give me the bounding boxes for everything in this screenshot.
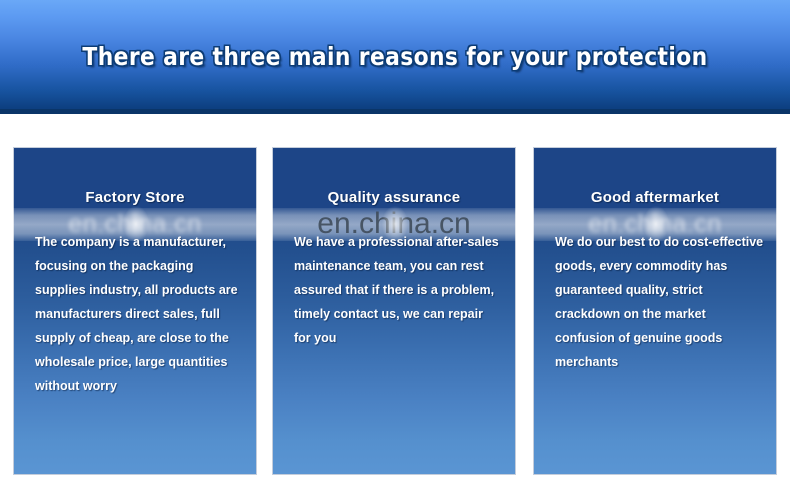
header-underline xyxy=(0,109,790,114)
card-title-good-aftermarket: Good aftermarket xyxy=(534,189,776,206)
card-body-quality-assurance: We have a professional after-sales maint… xyxy=(294,230,503,350)
promo-banner-page: There are three main reasons for your pr… xyxy=(0,0,790,477)
card-title-factory-store: Factory Store xyxy=(14,189,256,206)
reasons-card-row: Factory Store The company is a manufactu… xyxy=(0,148,790,474)
header-banner: There are three main reasons for your pr… xyxy=(0,0,790,114)
card-body-factory-store: The company is a manufacturer, focusing … xyxy=(35,230,244,398)
reason-card-good-aftermarket: Good aftermarket We do our best to do co… xyxy=(534,148,776,474)
card-body-good-aftermarket: We do our best to do cost-effective good… xyxy=(555,230,764,374)
reason-card-factory-store: Factory Store The company is a manufactu… xyxy=(14,148,256,474)
page-title: There are three main reasons for your pr… xyxy=(12,42,778,71)
reason-card-quality-assurance: Quality assurance We have a professional… xyxy=(273,148,515,474)
card-title-quality-assurance: Quality assurance xyxy=(273,189,515,206)
